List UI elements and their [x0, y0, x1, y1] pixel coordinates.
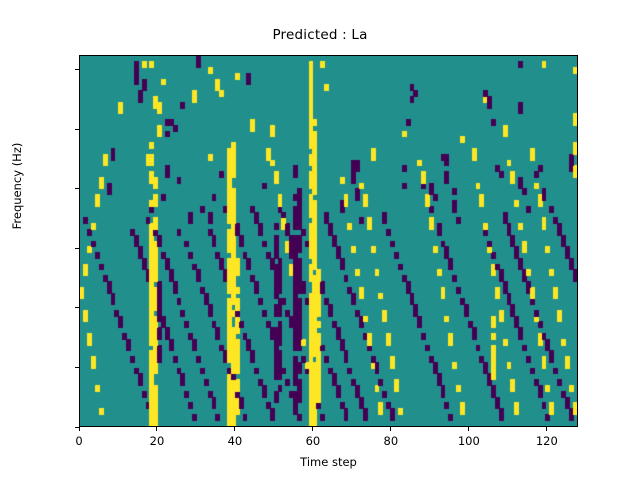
x-tick-mark — [156, 427, 157, 431]
y-tick-mark — [75, 188, 79, 189]
matplotlib-figure: Predicted : La Frequency (Hz) 0200004000… — [0, 0, 640, 480]
x-tick-mark — [546, 427, 547, 431]
y-tick-mark — [75, 129, 79, 130]
y-axis-label: Frequency (Hz) — [10, 86, 24, 286]
x-tick-mark — [79, 427, 80, 431]
x-axis-label: Time step — [79, 455, 578, 469]
y-tick-mark — [75, 307, 79, 308]
x-tick-label: 120 — [507, 434, 587, 448]
heatmap-image — [80, 56, 577, 426]
page-title: Predicted : La — [0, 27, 640, 43]
x-tick-label: 100 — [429, 434, 509, 448]
y-tick-mark — [75, 367, 79, 368]
x-tick-mark — [468, 427, 469, 431]
x-tick-mark — [390, 427, 391, 431]
x-tick-label: 60 — [273, 434, 353, 448]
y-tick-mark — [75, 69, 79, 70]
x-tick-mark — [312, 427, 313, 431]
x-tick-label: 80 — [351, 434, 431, 448]
heatmap-axes — [79, 55, 578, 427]
x-tick-mark — [234, 427, 235, 431]
x-tick-label: 20 — [117, 434, 197, 448]
x-tick-label: 40 — [195, 434, 275, 448]
x-tick-label: 0 — [39, 434, 119, 448]
y-tick-mark — [75, 248, 79, 249]
